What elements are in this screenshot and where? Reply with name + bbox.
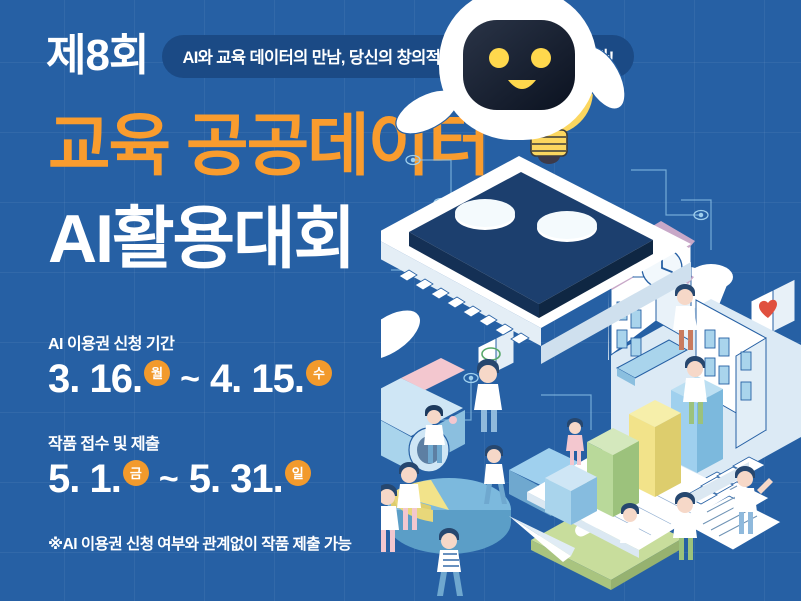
footnote-text: ※AI 이용권 신청 여부와 관계없이 작품 제출 가능 [48, 532, 351, 554]
start-day-badge: 월 [144, 360, 170, 386]
schedule-dates: 3. 16. 월 ~ 4. 15. 수 [48, 358, 332, 401]
schedule-dates: 5. 1. 금 ~ 5. 31. 일 [48, 458, 311, 501]
start-date: 5. 1. [48, 458, 121, 500]
schedule-block-submission: 작품 접수 및 제출 5. 1. 금 ~ 5. 31. 일 [48, 430, 311, 501]
end-day-badge: 일 [285, 460, 311, 486]
illustration-artwork [381, 0, 801, 601]
date-separator: ~ [159, 458, 179, 501]
start-day-badge: 금 [123, 460, 149, 486]
end-date: 4. 15. [210, 358, 304, 400]
end-date: 5. 31. [189, 458, 283, 500]
date-separator: ~ [180, 358, 200, 401]
poster-canvas: 제8회 AI와 교육 데이터의 만남, 당신의 창의적인 아이디어를 기다립니다… [0, 0, 801, 601]
schedule-label: 작품 접수 및 제출 [48, 430, 311, 454]
schedule-label: AI 이용권 신청 기간 [48, 330, 332, 354]
start-date: 3. 16. [48, 358, 142, 400]
title-line-2: AI활용대회 [48, 205, 354, 273]
edition-label: 제8회 [46, 34, 148, 78]
end-day-badge: 수 [306, 360, 332, 386]
video-camera-icon [381, 358, 465, 472]
schedule-block-application: AI 이용권 신청 기간 3. 16. 월 ~ 4. 15. 수 [48, 330, 332, 401]
